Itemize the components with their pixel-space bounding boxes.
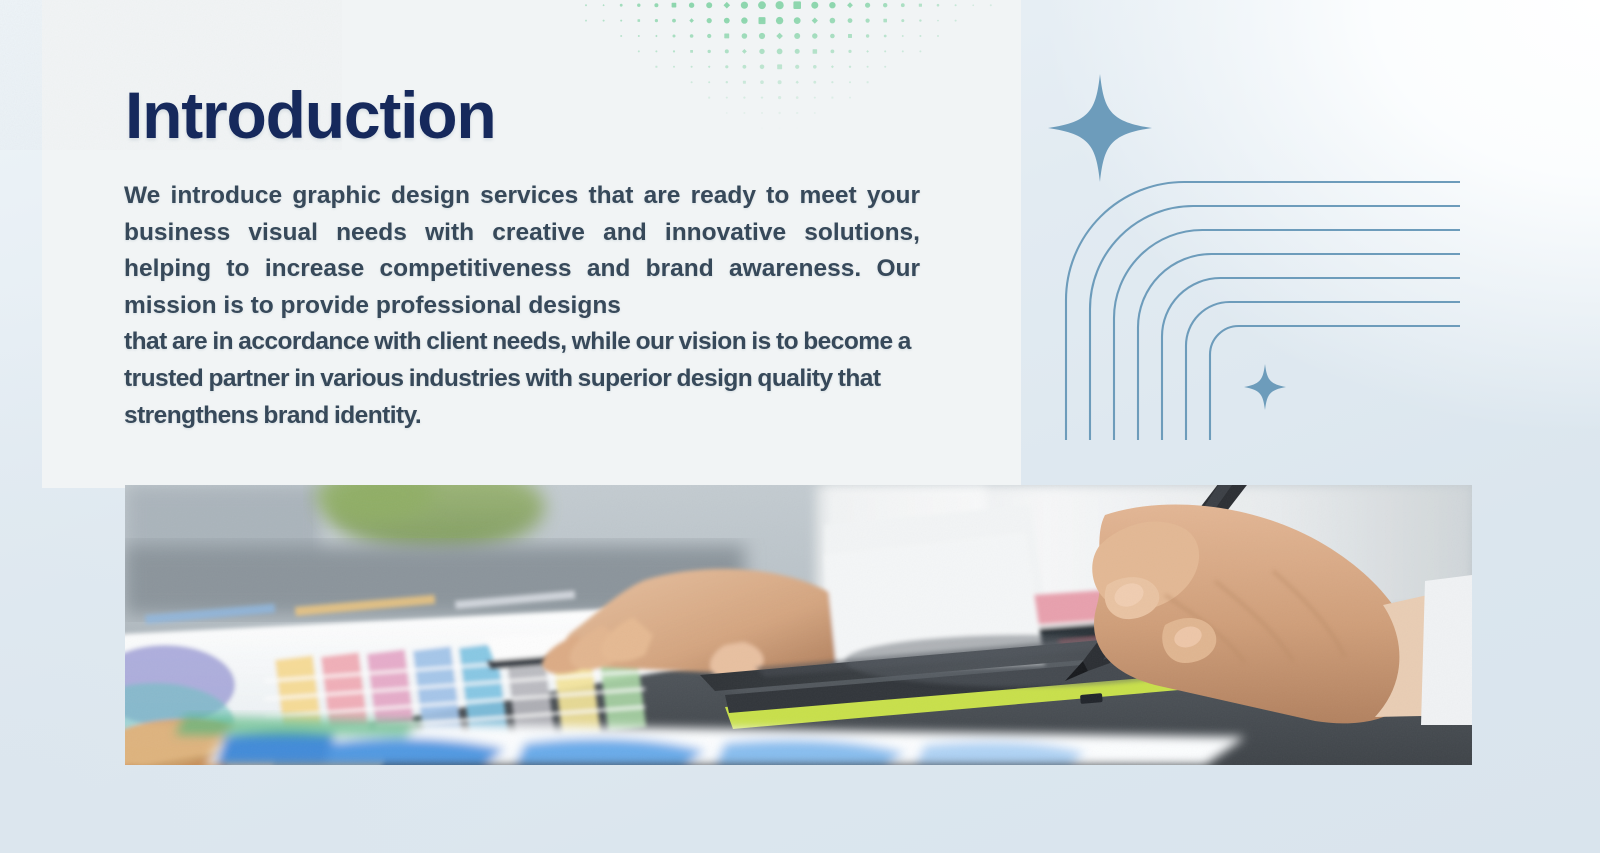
intro-paragraph: We introduce graphic design services tha… xyxy=(124,178,920,434)
page-title: Introduction xyxy=(125,80,496,150)
hero-photo-illustration xyxy=(125,485,1472,765)
sparkle-icon xyxy=(1243,363,1287,411)
hero-photo xyxy=(125,485,1472,765)
intro-paragraph-main: We introduce graphic design services tha… xyxy=(124,182,920,319)
halftone-dot-pattern-icon xyxy=(576,0,996,142)
intro-paragraph-tail: that are in accordance with client needs… xyxy=(124,324,920,434)
content-panel: Introduction We introduce graphic design… xyxy=(42,0,1021,488)
slide-canvas: Introduction We introduce graphic design… xyxy=(0,0,1600,853)
